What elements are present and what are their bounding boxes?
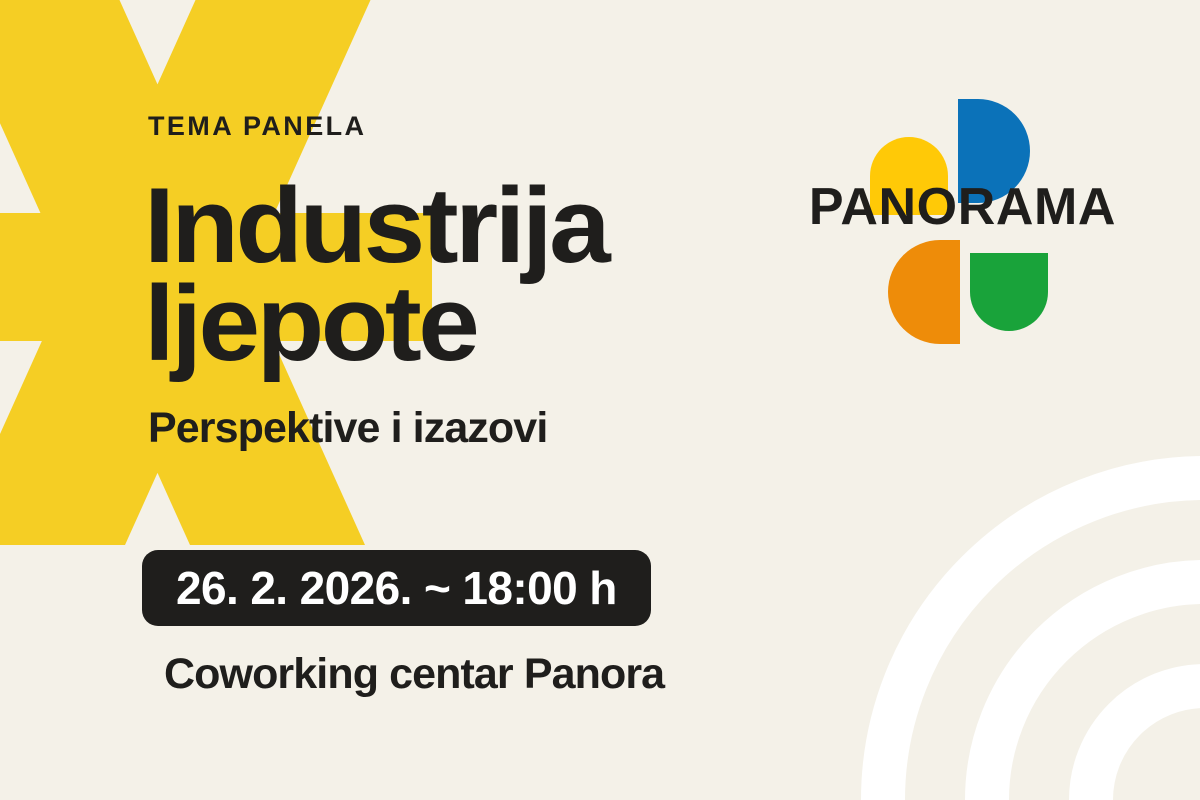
petal-orange-icon <box>888 240 960 344</box>
date-time-badge: 26. 2. 2026. ~ 18:00 h <box>142 550 651 626</box>
eyebrow-label: TEMA PANELA <box>148 113 366 140</box>
panorama-logo: PANORAMA <box>790 85 1135 335</box>
date-time-text: 26. 2. 2026. ~ 18:00 h <box>176 565 617 611</box>
subtitle: Perspektive i izazovi <box>148 407 547 450</box>
panel-info: TEMA PANELA Industrija ljepote Perspekti… <box>148 0 848 800</box>
venue-label: Coworking centar Panora <box>164 653 664 696</box>
panorama-wordmark: PANORAMA <box>790 181 1135 233</box>
petal-green-icon <box>970 253 1048 331</box>
event-poster: TEMA PANELA Industrija ljepote Perspekti… <box>0 0 1200 800</box>
page-title: Industrija ljepote <box>144 176 889 373</box>
